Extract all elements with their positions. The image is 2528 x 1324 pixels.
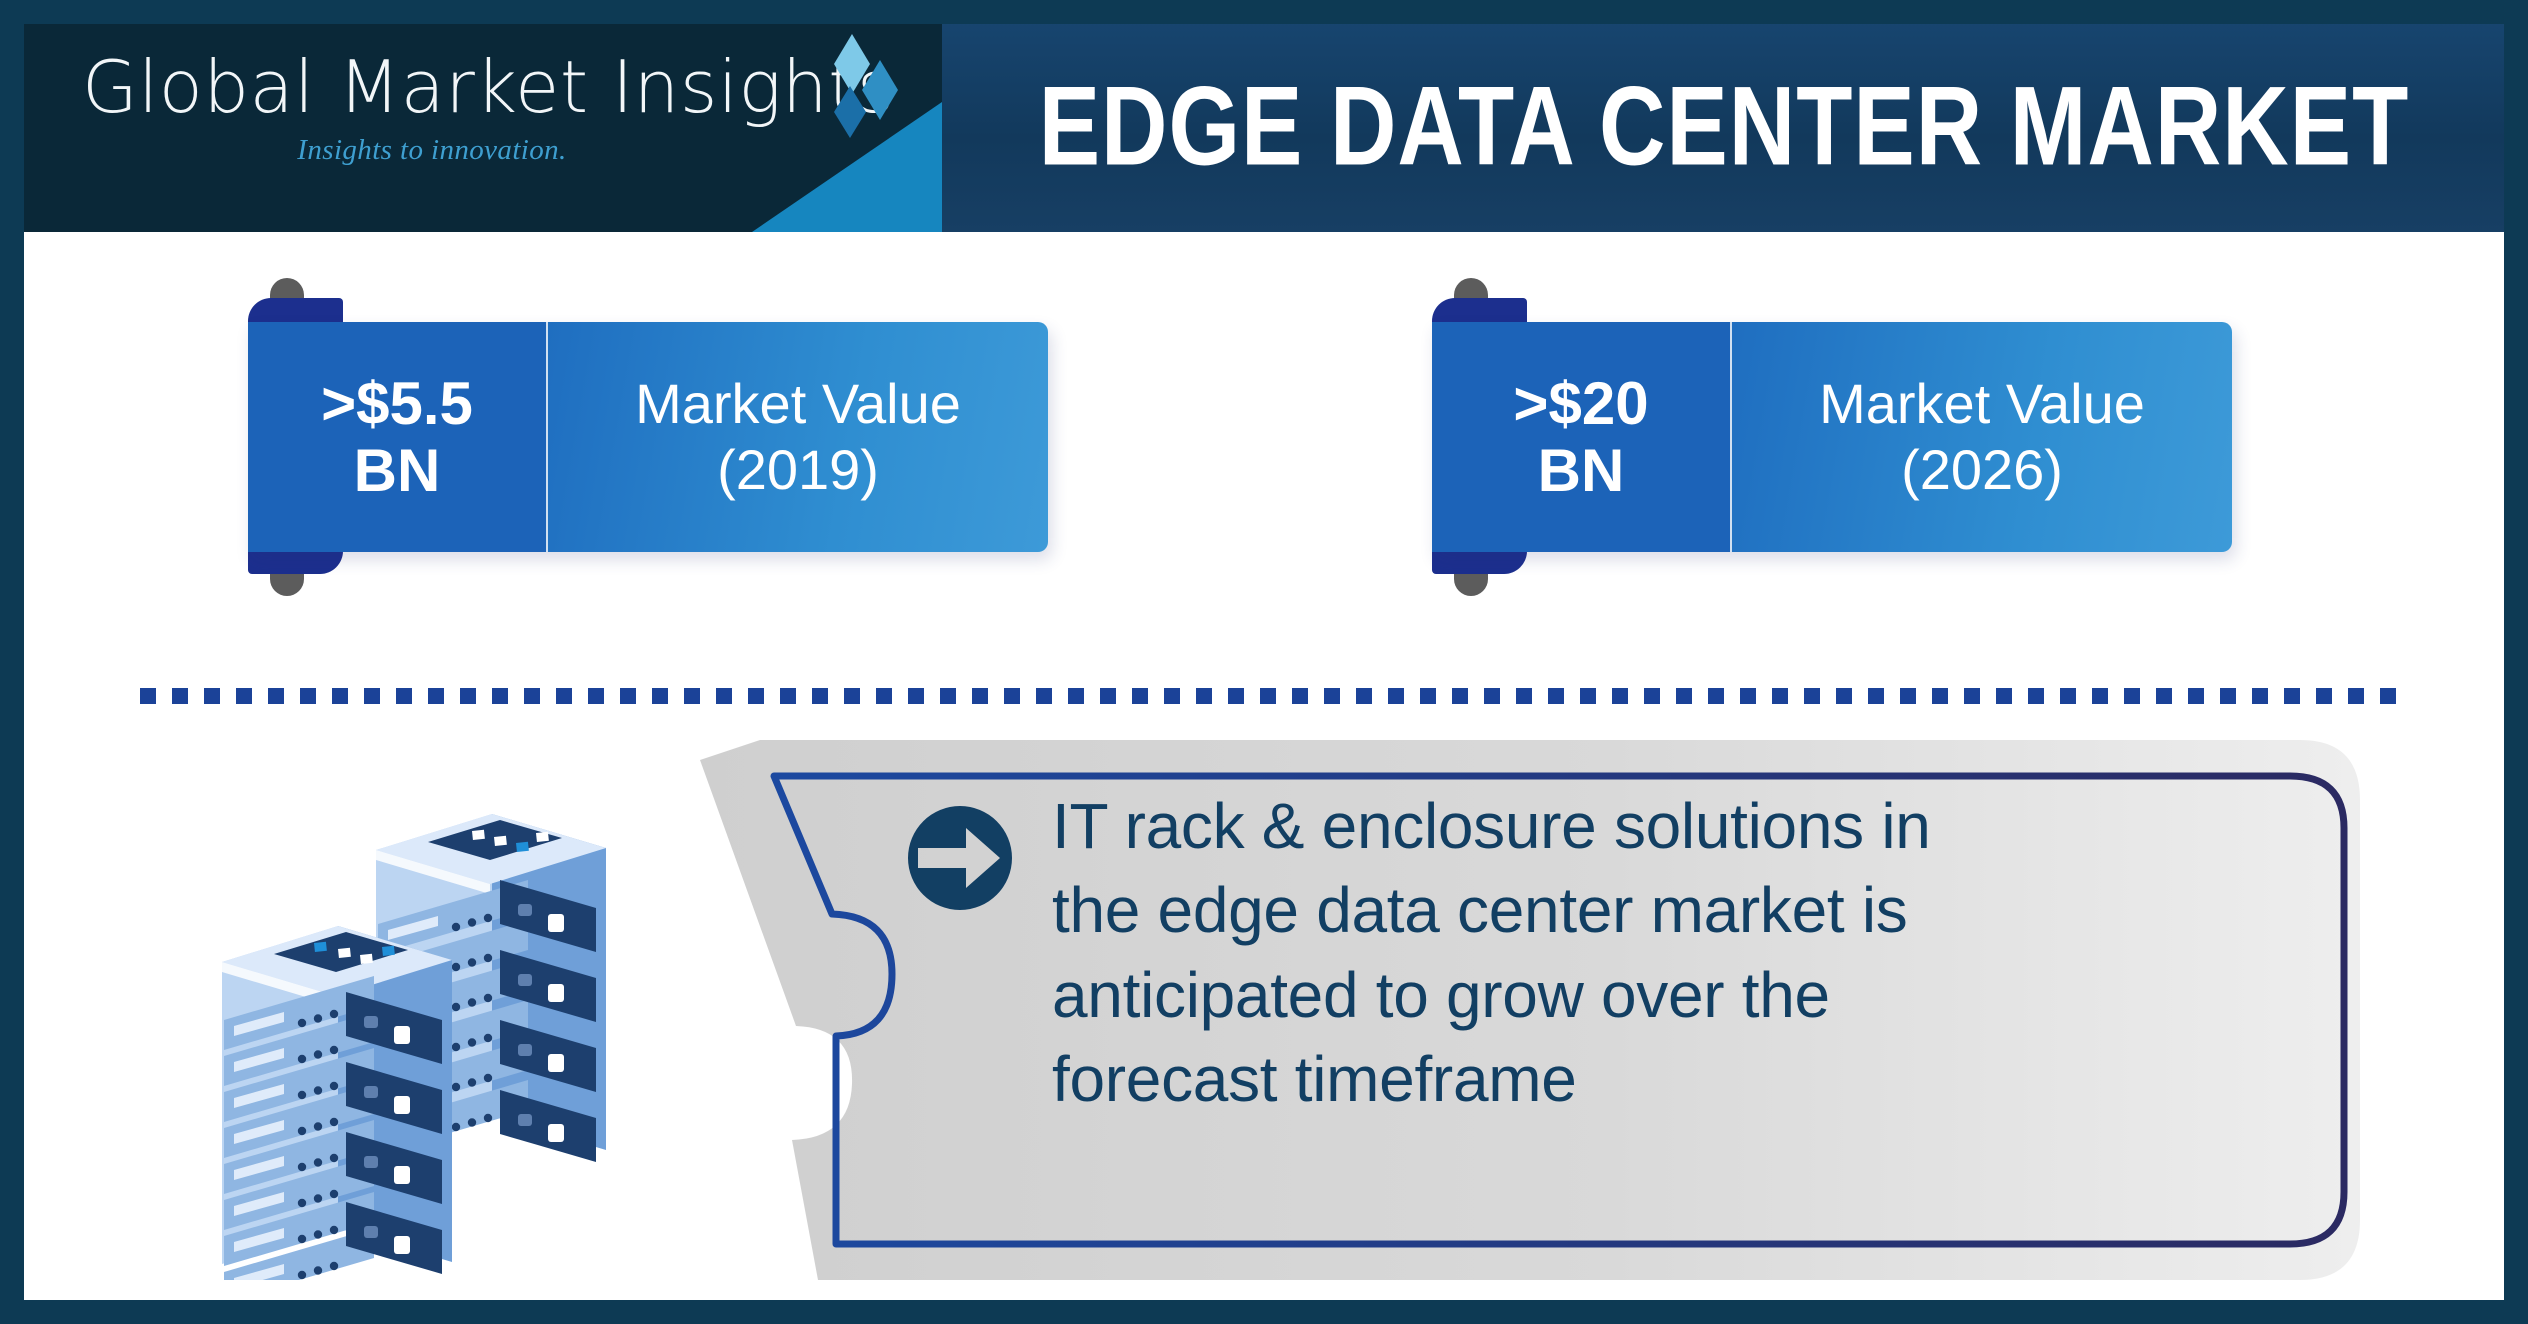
callout-line-2: the edge data center market is [1052, 868, 2282, 952]
badge-body: >$5.5 BN Market Value (2019) [248, 322, 1048, 552]
badge-label-cell: Market Value (2019) [548, 322, 1048, 552]
badge-label-line2: (2026) [1901, 437, 2063, 503]
callout-line-1: IT rack & enclosure solutions in [1052, 784, 2282, 868]
header: Global Market Insights Insights to innov… [22, 22, 2506, 232]
badge-body: >$20 BN Market Value (2026) [1432, 322, 2232, 552]
brand-wordmark: Global Market Insights [82, 50, 862, 126]
callout-box: IT rack & enclosure solutions in the edg… [700, 740, 2400, 1280]
header-logo-panel: Global Market Insights Insights to innov… [22, 22, 942, 232]
badge-label-line1: Market Value [635, 371, 961, 437]
infographic-root: Global Market Insights Insights to innov… [0, 0, 2528, 1324]
badge-label-cell: Market Value (2026) [1732, 322, 2232, 552]
brand-logo: Global Market Insights Insights to innov… [82, 50, 862, 167]
brand-tagline: Insights to innovation. [82, 134, 782, 167]
badge-label-line2: (2019) [717, 437, 879, 503]
badge-label-line1: Market Value [1819, 371, 2145, 437]
badge-value-cell: >$5.5 BN [248, 322, 548, 552]
badge-value-line2: BN [354, 437, 441, 504]
page-title: EDGE DATA CENTER MARKET [1039, 63, 2410, 191]
dotted-divider [140, 688, 2402, 704]
server-racks-icon [180, 720, 720, 1280]
header-accent-triangle [752, 102, 942, 232]
callout-line-3: anticipated to grow over the [1052, 953, 2282, 1037]
badge-value-line2: BN [1538, 437, 1625, 504]
badge-value-line1: >$5.5 [321, 370, 473, 437]
badge-value-cell: >$20 BN [1432, 322, 1732, 552]
callout-line-4: forecast timeframe [1052, 1037, 2282, 1121]
callout-text: IT rack & enclosure solutions in the edg… [1052, 784, 2282, 1122]
arrow-right-circle-icon [908, 806, 1012, 910]
header-title-panel: EDGE DATA CENTER MARKET [942, 22, 2506, 232]
badge-value-line1: >$20 [1513, 370, 1648, 437]
